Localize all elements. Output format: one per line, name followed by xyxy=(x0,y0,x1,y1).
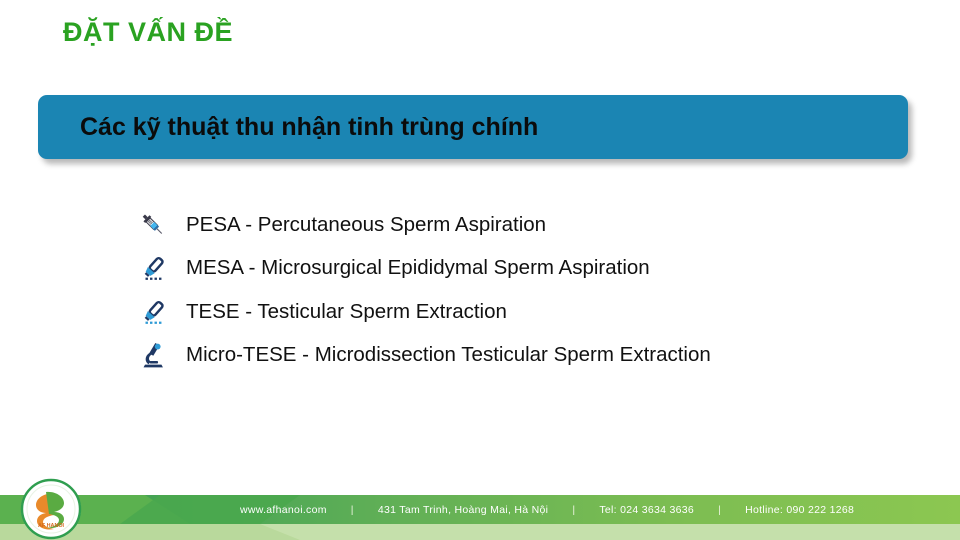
footer: www.afhanoi.com | 431 Tam Trinh, Hoàng M… xyxy=(0,482,960,540)
list-item: MESA - Microsurgical Epididymal Sperm As… xyxy=(136,247,896,291)
technique-label: TESE - Testicular Sperm Extraction xyxy=(186,300,507,324)
syringe-icon xyxy=(136,208,170,242)
slide-canvas: ĐẶT VẤN ĐỀ Các kỹ thuật thu nhận tinh tr… xyxy=(0,0,960,540)
page-title: ĐẶT VẤN ĐỀ xyxy=(63,17,233,48)
banner-bar: Các kỹ thuật thu nhận tinh trùng chính xyxy=(38,95,908,159)
technique-label: Micro-TESE - Microdissection Testicular … xyxy=(186,343,711,367)
footer-hotline: Hotline: 090 222 1268 xyxy=(745,504,854,516)
technique-list: PESA - Percutaneous Sperm Aspiration MES… xyxy=(136,203,896,377)
list-item: PESA - Percutaneous Sperm Aspiration xyxy=(136,203,896,247)
highlighter-pen-icon xyxy=(136,295,170,329)
banner-heading: Các kỹ thuật thu nhận tinh trùng chính xyxy=(80,95,538,159)
logo-text: AF HANOI xyxy=(38,523,65,529)
highlighter-pen-icon xyxy=(136,251,170,285)
technique-label: PESA - Percutaneous Sperm Aspiration xyxy=(186,213,546,237)
footer-tel: Tel: 024 3634 3636 xyxy=(599,504,694,516)
list-item: TESE - Testicular Sperm Extraction xyxy=(136,290,896,334)
footer-separator: | xyxy=(548,504,599,516)
technique-label: MESA - Microsurgical Epididymal Sperm As… xyxy=(186,256,650,280)
footer-contact-line: www.afhanoi.com | 431 Tam Trinh, Hoàng M… xyxy=(240,495,854,524)
footer-separator: | xyxy=(694,504,745,516)
footer-separator: | xyxy=(327,504,378,516)
list-item: Micro-TESE - Microdissection Testicular … xyxy=(136,334,896,378)
footer-website[interactable]: www.afhanoi.com xyxy=(240,504,327,516)
logo: AF HANOI xyxy=(20,478,82,540)
footer-address: 431 Tam Trinh, Hoàng Mai, Hà Nội xyxy=(378,504,548,516)
microscope-icon xyxy=(136,338,170,372)
